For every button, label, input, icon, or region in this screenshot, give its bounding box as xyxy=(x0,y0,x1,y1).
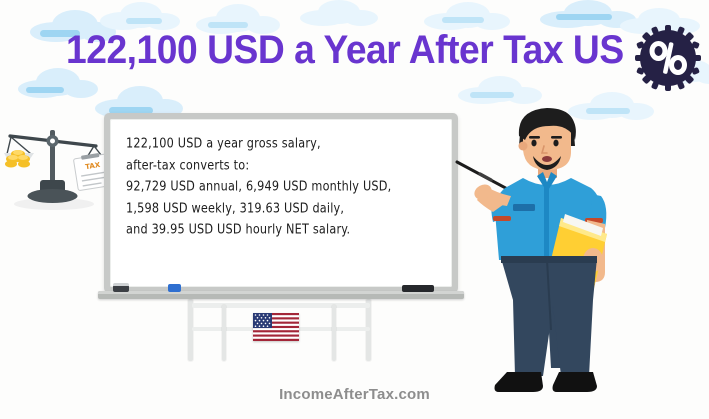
eraser-icon xyxy=(113,285,129,292)
page-title: 122,100 USD a Year After Tax US xyxy=(66,22,605,78)
board-line: and 39.95 USD USD hourly NET salary. xyxy=(126,218,436,242)
balance-scale-icon: TAX xyxy=(4,112,108,212)
site-footer: IncomeAfterTax.com xyxy=(0,386,709,403)
marker-dark-icon xyxy=(402,285,434,292)
whiteboard-surface: 122,100 USD a year gross salary, after-t… xyxy=(110,119,452,287)
whiteboard: 122,100 USD a year gross salary, after-t… xyxy=(104,113,458,293)
board-line: 92,729 USD annual, 6,949 USD monthly USD… xyxy=(126,175,436,199)
percent-badge-icon xyxy=(634,24,702,92)
marker-blue-icon xyxy=(168,284,181,292)
board-line: after-tax converts to: xyxy=(126,153,436,177)
board-line: 1,598 USD weekly, 319.63 USD daily, xyxy=(126,196,436,220)
infographic-canvas: 122,100 USD a Year After Tax US xyxy=(0,0,709,419)
stand-leg xyxy=(332,305,336,361)
marker-tray xyxy=(98,291,464,299)
whiteboard-text: 122,100 USD a year gross salary, after-t… xyxy=(126,133,442,241)
board-line: 122,100 USD a year gross salary, xyxy=(126,132,436,156)
stand-crossbar xyxy=(192,303,370,308)
teacher-figure xyxy=(455,100,640,400)
us-flag-icon xyxy=(253,313,299,341)
stand-leg xyxy=(222,305,226,361)
